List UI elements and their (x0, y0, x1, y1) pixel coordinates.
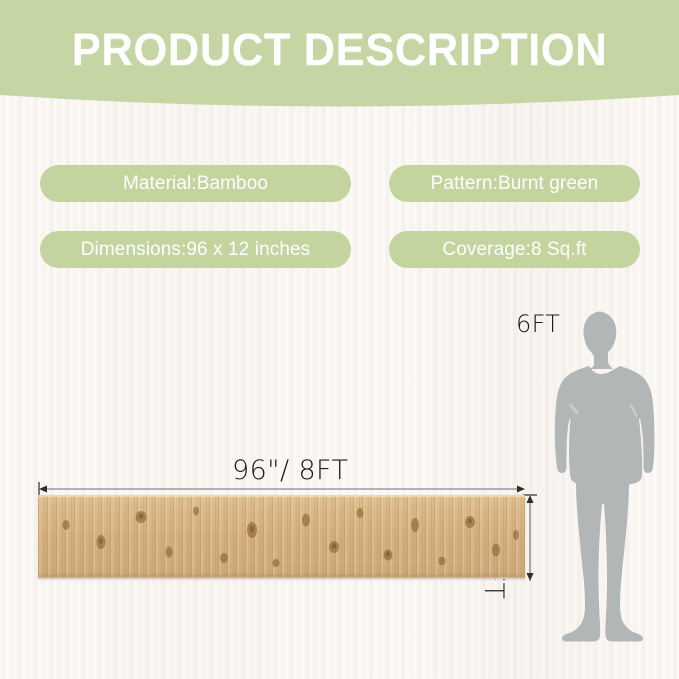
spec-pill-coverage-label: Coverage:8 Sq.ft (442, 239, 586, 261)
page-title: PRODUCT DESCRIPTION (10, 27, 669, 74)
spec-pill-pattern-label: Pattern:Burnt green (431, 173, 599, 195)
spec-pill-material-label: Material:Bamboo (123, 173, 268, 195)
spec-pill-dimensions-label: Dimensions:96 x 12 inches (81, 239, 311, 261)
spec-pill-dimensions: Dimensions:96 x 12 inches (40, 231, 351, 268)
spec-pill-coverage: Coverage:8 Sq.ft (389, 231, 640, 268)
product-description-infographic: PRODUCT DESCRIPTION Material:Bamboo Patt… (0, 0, 679, 679)
spec-pill-pattern: Pattern:Burnt green (389, 165, 640, 202)
spec-pill-material: Material:Bamboo (40, 165, 351, 202)
bamboo-plank-product (38, 495, 525, 579)
human-silhouette-icon (543, 308, 668, 643)
